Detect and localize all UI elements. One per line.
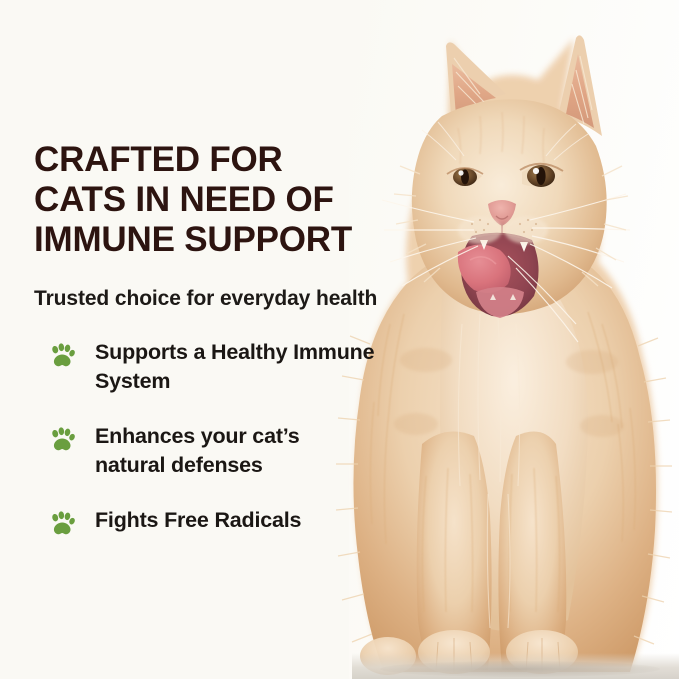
paw-print-icon bbox=[48, 510, 76, 538]
list-item-label: Enhances your cat’s natural defenses bbox=[95, 422, 375, 480]
list-item: Enhances your cat’s natural defenses bbox=[48, 422, 394, 480]
headline: CRAFTED FOR CATS IN NEED OF IMMUNE SUPPO… bbox=[34, 140, 384, 260]
background-right-wash bbox=[349, 0, 679, 679]
floor-shadow bbox=[380, 661, 660, 677]
list-item: Supports a Healthy Immune System bbox=[48, 338, 394, 396]
infographic-canvas: CRAFTED FOR CATS IN NEED OF IMMUNE SUPPO… bbox=[0, 0, 679, 679]
list-item-label: Fights Free Radicals bbox=[95, 506, 301, 535]
headline-line-3: IMMUNE SUPPORT bbox=[34, 220, 384, 260]
list-item-label: Supports a Healthy Immune System bbox=[95, 338, 375, 396]
headline-line-2: CATS IN NEED OF bbox=[34, 180, 384, 220]
benefit-list: Supports a Healthy Immune System Enhance… bbox=[48, 338, 394, 538]
paw-print-icon bbox=[48, 342, 76, 370]
headline-line-1: CRAFTED FOR bbox=[34, 140, 384, 180]
subheading: Trusted choice for everyday health bbox=[34, 286, 414, 312]
text-column: CRAFTED FOR CATS IN NEED OF IMMUNE SUPPO… bbox=[34, 0, 394, 679]
paw-print-icon bbox=[48, 426, 76, 454]
list-item: Fights Free Radicals bbox=[48, 506, 394, 538]
